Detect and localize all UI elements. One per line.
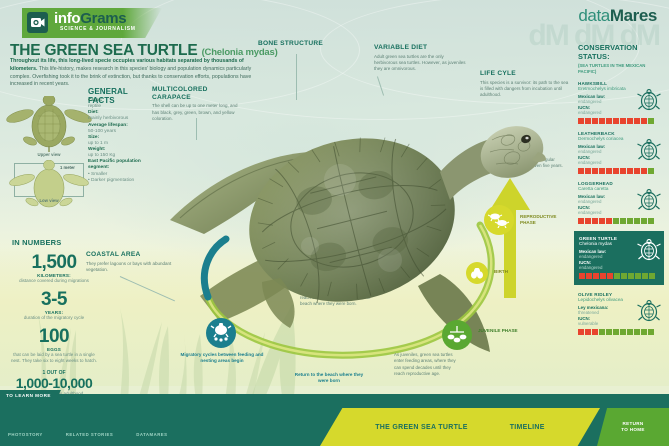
status-bar-cell <box>585 118 591 124</box>
footer-links: PHOTOSTORY RELATED STORIES DATAMARES <box>8 432 168 437</box>
status-bar-cell <box>613 168 619 174</box>
status-bar-cell <box>648 218 654 224</box>
species-card[interactable]: HAWKSBILLEretmochelys imbricataMexican l… <box>578 81 664 124</box>
juvenile-phase-label: JUVENILE PHASE <box>478 328 522 334</box>
status-bar-cell <box>578 168 584 174</box>
status-bar-cell <box>606 329 612 335</box>
footer-tab-title[interactable]: THE GREEN SEA TURTLE <box>375 424 467 431</box>
to-learn-more-label: TO LEARN MORE <box>6 393 51 398</box>
status-bar-cell <box>599 329 605 335</box>
hatchlings-icon <box>446 325 468 345</box>
status-bar-cell <box>606 118 612 124</box>
status-bar-cell <box>634 218 640 224</box>
in-numbers-description: duration of the migratory cycle <box>8 315 100 321</box>
eggs-icon <box>470 268 484 279</box>
in-numbers-value: 100 <box>8 327 100 347</box>
species-card[interactable]: LEATHERBACKDermochelys coriaceaMexican l… <box>578 131 664 174</box>
return-to-beach-label: Return to the beach where they were born <box>290 372 368 383</box>
in-numbers-value: 1,500 <box>8 253 100 273</box>
status-bar-cell <box>592 118 598 124</box>
status-bar-cell <box>613 118 619 124</box>
species-card[interactable]: GREEN TURTLEChelonia mydasMexican law:en… <box>574 231 664 285</box>
infographic-page: infoGrams SCIENCE & JOURNALISM dM dM dM … <box>0 0 669 446</box>
logo-tagline: SCIENCE & JOURNALISM <box>60 26 136 32</box>
page-title-scientific: (Chelonia mydas) <box>202 47 278 58</box>
species-turtle-icon <box>636 239 662 263</box>
juvenile-phase-node[interactable] <box>442 320 472 350</box>
species-status-bar <box>578 218 664 224</box>
birth-node[interactable] <box>466 262 488 284</box>
status-bar-cell <box>613 329 619 335</box>
status-bar-cell <box>592 218 598 224</box>
status-bar-cell <box>641 329 647 335</box>
status-bar-cell <box>579 273 585 279</box>
logo-grams-text: Grams <box>80 10 126 27</box>
status-bar-cell <box>585 329 591 335</box>
bone-structure-heading: BONE STRUCTURE <box>258 40 338 48</box>
status-bar-cell <box>620 118 626 124</box>
status-bar-cell <box>592 329 598 335</box>
status-bar-cell <box>592 168 598 174</box>
datamares-logo[interactable]: dataMares <box>578 6 657 26</box>
species-card[interactable]: LOGGERHEADCaretta carettaMexican law:end… <box>578 181 664 224</box>
page-title-main: THE GREEN SEA TURTLE <box>10 42 197 59</box>
two-turtles-icon <box>488 212 510 228</box>
status-bar-cell <box>648 329 654 335</box>
in-numbers-section: IN NUMBERS 1,500KILOMETERS:distance cove… <box>8 238 100 397</box>
footer-link-related-stories[interactable]: RELATED STORIES <box>66 432 113 437</box>
datamares-mares: Mares <box>610 6 657 25</box>
conservation-status-panel: CONSERVATION STATUS: (SEA TURTLES IN THE… <box>578 44 664 335</box>
in-numbers-list: 1,500KILOMETERS:distance covered during … <box>8 253 100 397</box>
status-bar-cell <box>585 168 591 174</box>
status-bar-cell <box>593 273 599 279</box>
species-status-bar <box>579 273 659 279</box>
low-view-label: Low view <box>6 198 92 203</box>
species-status-bar <box>578 168 664 174</box>
return-to-home-label: RETURN TO HOME <box>621 421 644 433</box>
status-bar-cell <box>614 273 620 279</box>
species-card[interactable]: OLIVE RIDLEYLepidochelys olivaceaLey mex… <box>578 292 664 335</box>
footer-link-datamares[interactable]: DATAMARES <box>136 432 167 437</box>
status-bar-cell <box>648 118 654 124</box>
in-numbers-description: that can be laid by a sea turtle in a si… <box>8 352 100 364</box>
in-numbers-item: 3-5YEARS:duration of the migratory cycle <box>8 290 100 321</box>
status-bar-cell <box>586 273 592 279</box>
status-bar-cell <box>621 273 627 279</box>
datamares-data: data <box>578 6 610 25</box>
status-bar-cell <box>627 118 633 124</box>
status-bar-cell <box>620 329 626 335</box>
turtle-upper-view-diagram <box>6 96 92 152</box>
to-learn-more-tab[interactable]: TO LEARN MORE <box>0 390 61 401</box>
turtle-low-view-diagram <box>6 160 92 212</box>
status-bar-cell <box>627 168 633 174</box>
species-status-bar <box>578 118 664 124</box>
reproductive-phase-node[interactable] <box>484 205 514 235</box>
status-bar-cell <box>578 218 584 224</box>
status-bar-cell <box>635 273 641 279</box>
in-numbers-item: 1,500KILOMETERS:distance covered during … <box>8 253 100 284</box>
species-iucn-status: endangered <box>579 265 659 270</box>
status-bar-cell <box>578 118 584 124</box>
footer-tab-timeline[interactable]: TIMELINE <box>510 424 545 431</box>
species-list: HAWKSBILLEretmochelys imbricataMexican l… <box>578 81 664 335</box>
callout-bone-structure: BONE STRUCTURE <box>258 40 338 48</box>
conservation-subheading: (SEA TURTLES IN THE MEXICAN PACIFIC) <box>578 63 664 74</box>
species-turtle-icon <box>636 300 662 324</box>
footer-yellow-tab: THE GREEN SEA TURTLE TIMELINE <box>320 408 600 446</box>
status-bar-cell <box>628 273 634 279</box>
status-bar-cell <box>606 168 612 174</box>
migratory-cycles-node[interactable] <box>206 318 236 348</box>
variable-diet-heading: VARIABLE DIET <box>374 44 466 52</box>
status-bar-cell <box>641 118 647 124</box>
status-bar-cell <box>578 329 584 335</box>
camera-icon <box>27 12 48 33</box>
in-numbers-heading: IN NUMBERS <box>8 238 100 247</box>
juvenile-phase-text: As juveniles, green sea turtles enter fe… <box>394 352 460 377</box>
status-bar-cell <box>641 168 647 174</box>
status-bar-cell <box>634 168 640 174</box>
birth-label: BIRTH <box>494 269 534 275</box>
status-bar-cell <box>599 168 605 174</box>
turtle-white-icon <box>210 323 232 343</box>
status-bar-cell <box>627 218 633 224</box>
logo-info-text: info <box>54 10 80 27</box>
return-to-home-button[interactable]: RETURN TO HOME <box>597 408 669 446</box>
status-bar-cell <box>620 168 626 174</box>
species-status-bar <box>578 329 664 335</box>
in-numbers-value: 3-5 <box>8 290 100 310</box>
status-bar-cell <box>599 118 605 124</box>
status-bar-cell <box>620 218 626 224</box>
status-bar-cell <box>600 273 606 279</box>
status-bar-cell <box>634 329 640 335</box>
status-bar-cell <box>649 273 655 279</box>
in-numbers-value: 1,000-10,000 <box>8 376 100 391</box>
status-bar-cell <box>641 218 647 224</box>
conservation-heading: CONSERVATION STATUS: <box>578 44 664 61</box>
status-bar-cell <box>648 168 654 174</box>
in-numbers-description: distance covered during migrations <box>8 278 100 284</box>
status-bar-cell <box>642 273 648 279</box>
reproductive-phase-label: REPRODUCTIVE PHASE <box>520 214 568 225</box>
status-bar-cell <box>599 218 605 224</box>
species-turtle-icon <box>636 189 662 213</box>
status-bar-cell <box>613 218 619 224</box>
status-bar-cell <box>634 118 640 124</box>
status-bar-cell <box>607 273 613 279</box>
status-bar-cell <box>606 218 612 224</box>
species-turtle-icon <box>636 139 662 163</box>
status-bar-cell <box>585 218 591 224</box>
upper-view-label: Upper view <box>6 152 92 157</box>
footer-link-photostory[interactable]: PHOTOSTORY <box>8 432 43 437</box>
in-numbers-item: 100EGGSthat can be laid by a sea turtle … <box>8 327 100 364</box>
migratory-cycles-label: Migratory cycles between feeding and nes… <box>180 352 264 363</box>
status-bar-cell <box>627 329 633 335</box>
species-turtle-icon <box>636 89 662 113</box>
